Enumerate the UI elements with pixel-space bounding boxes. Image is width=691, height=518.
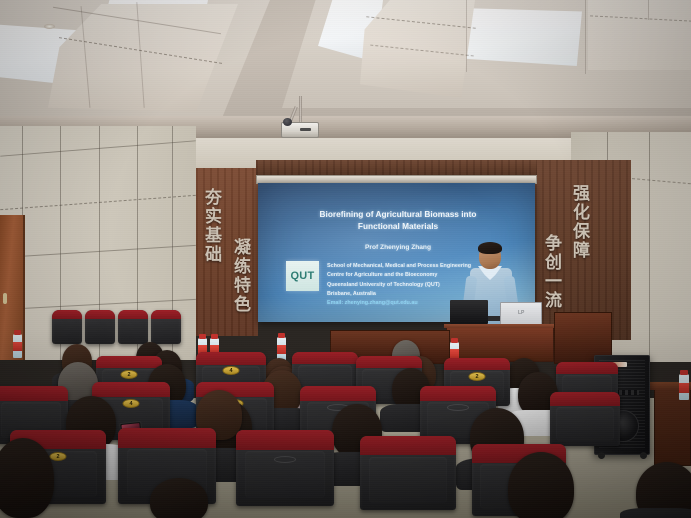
qut-logo: QUT (286, 261, 319, 291)
seat-r3-6-top (556, 362, 618, 374)
audience-head-fg4 (150, 478, 208, 518)
seat-r2-4-top (300, 386, 376, 401)
slide-title: Biorefining of Agricultural Biomass into… (280, 208, 516, 232)
back-chair-3[interactable] (118, 310, 148, 344)
back-chair-1[interactable] (52, 310, 82, 344)
seat-r3-3-top (292, 352, 358, 364)
bottle-cap-2 (199, 334, 206, 339)
panel-seam-h1 (0, 140, 195, 156)
ceiling-seam-10 (648, 0, 649, 20)
water-bottle-7 (679, 374, 689, 400)
seat-r1-4-top (360, 436, 456, 455)
panel-seam-h3 (0, 245, 196, 258)
seat-r2-2-top (92, 382, 170, 397)
wall-calligraphy-right-2: 强化保障 (567, 180, 587, 264)
lecture-hall-photo: 夯实基础 凝练特色 争创一流 强化保障 Biorefining of Agric… (0, 0, 691, 518)
seat-r2-1-top (0, 386, 68, 401)
speaker-hair (478, 242, 502, 254)
back-chair-2-top (85, 310, 115, 319)
projector-vent-icon (300, 128, 311, 131)
bottle-label-4 (277, 345, 286, 354)
right-panel-seam-v2 (649, 132, 650, 362)
seat-r2-6-pad (556, 407, 613, 441)
seat-r1-4[interactable] (360, 436, 456, 510)
ceiling-seam-8 (466, 0, 467, 72)
seat-number-plate-r2-2: 4 (123, 399, 140, 408)
audience-shoulders-fg3 (620, 508, 691, 518)
slide-title-line2: Functional Materials (280, 220, 516, 232)
bottle-cap-4 (278, 333, 285, 338)
door-handle[interactable] (3, 293, 7, 304)
bottle-cap-1 (14, 330, 21, 335)
qut-logo-text: QUT (290, 270, 314, 282)
seat-r3-2-top (196, 352, 266, 365)
bottle-label-1 (13, 342, 22, 351)
ceiling-seam-9 (585, 0, 586, 74)
seat-r3-1-top (96, 356, 162, 368)
downlight-5 (44, 24, 55, 29)
seat-r1-2-top (118, 428, 216, 448)
laptop-brand-label: LP (518, 310, 524, 316)
podium-lectern (446, 326, 554, 362)
back-chair-4-top (151, 310, 181, 319)
seat-r2-5-top (420, 386, 496, 401)
back-chair-4[interactable] (151, 310, 181, 344)
pa-speaker-caster-left (598, 452, 605, 459)
wall-calligraphy-right-1: 争创一流 (539, 230, 559, 314)
bottle-label-5 (450, 349, 459, 358)
bottle-cap-3 (211, 334, 218, 339)
panel-seam-h4 (0, 299, 196, 310)
seat-r2-6[interactable] (550, 392, 620, 446)
bottle-cap-5 (451, 338, 458, 343)
projector-mount-pole (299, 96, 302, 124)
seat-r1-3-top (236, 430, 334, 450)
bottle-label-7 (679, 383, 689, 393)
seat-grip-r2-5 (447, 404, 469, 411)
seat-r3-4-top (356, 356, 422, 368)
audience-head-fg2 (508, 452, 574, 518)
pa-speaker-caster-right (640, 452, 647, 459)
projector-lens (283, 118, 292, 126)
seat-r1-4-pad (369, 457, 448, 503)
back-chair-3-top (118, 310, 148, 319)
wall-calligraphy-left-1: 夯实基础 (199, 184, 219, 268)
back-chair-2[interactable] (85, 310, 115, 344)
seat-r2-6-top (550, 392, 620, 406)
av-equipment-box (450, 300, 488, 324)
seat-r1-3[interactable] (236, 430, 334, 506)
water-bottle-1 (13, 334, 22, 358)
panel-seam-h2 (0, 195, 196, 210)
seat-number-plate-r1-1: 2 (50, 452, 67, 461)
seat-r3-5-top (444, 358, 510, 370)
bottle-cap-7 (680, 370, 688, 375)
wall-calligraphy-left-2: 凝练特色 (228, 234, 248, 318)
seat-grip-r1-3 (274, 456, 296, 463)
ceiling-plate-right-2 (588, 0, 691, 70)
podium-top-edge (444, 324, 556, 328)
slide-title-line1: Biorefining of Agricultural Biomass into (280, 208, 516, 220)
back-chair-1-top (52, 310, 82, 319)
seat-number-plate-r3-2: 4 (223, 366, 240, 375)
seat-number-plate-r3-1: 2 (121, 370, 138, 379)
seat-number-plate-r3-5: 2 (469, 372, 486, 381)
